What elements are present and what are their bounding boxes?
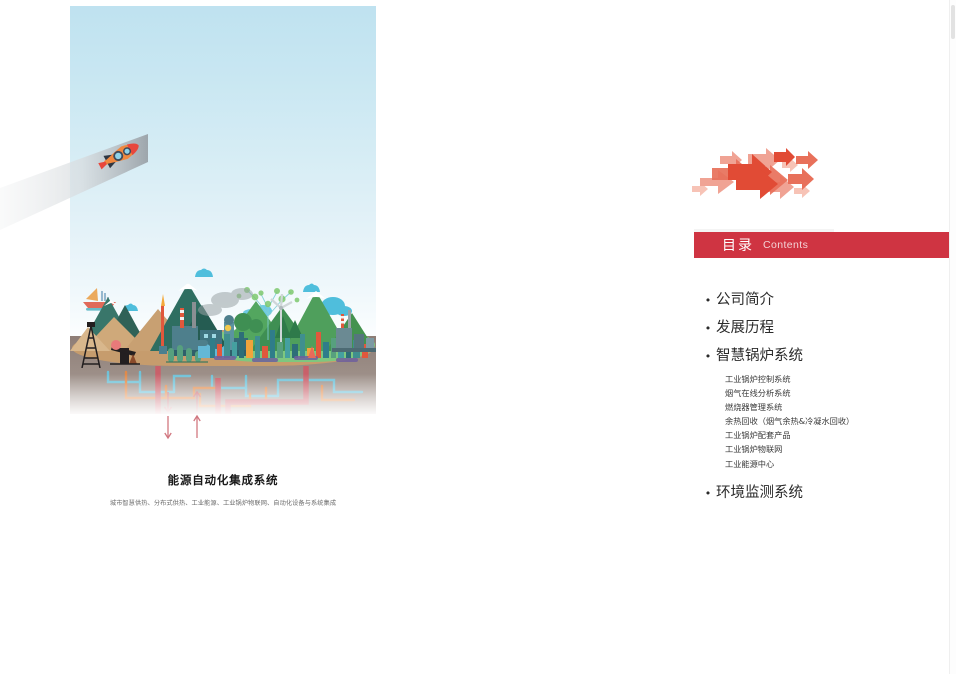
- bullet-icon: •: [700, 350, 716, 363]
- slide-title: 能源自动化集成系统: [70, 472, 376, 488]
- slide-cover-illustration[interactable]: [70, 6, 376, 414]
- toc-item-label: 智慧锅炉系统: [716, 344, 803, 365]
- rocket-icon: [95, 134, 145, 176]
- pipeline-overflow: [70, 410, 376, 460]
- bullet-icon: •: [700, 294, 716, 307]
- refinery-icon: [332, 308, 376, 356]
- bullet-icon: •: [700, 487, 716, 500]
- toc-item-history[interactable]: • 发展历程: [700, 316, 956, 337]
- toc-item-label: 发展历程: [716, 316, 774, 337]
- toc-item-company-intro[interactable]: • 公司简介: [700, 288, 956, 309]
- toc-subitem[interactable]: 燃烧器管理系统: [725, 400, 956, 414]
- vertical-scrollbar[interactable]: [949, 0, 956, 674]
- toc-item-label: 公司简介: [716, 288, 774, 309]
- toc-subitem[interactable]: 工业能源中心: [725, 457, 956, 471]
- toc-subitem[interactable]: 工业锅炉物联网: [725, 442, 956, 456]
- toc-subitem[interactable]: 余热回收（烟气余热&冷凝水回收）: [725, 414, 956, 428]
- arrows-right-icon: [690, 148, 820, 206]
- toc-item-environmental-monitoring[interactable]: • 环境监测系统: [700, 481, 956, 502]
- toc-subitems: 工业锅炉控制系统 烟气在线分析系统 燃烧器管理系统 余热回收（烟气余热&冷凝水回…: [725, 372, 956, 471]
- contents-banner: 目录 Contents: [694, 232, 954, 258]
- toc-subitem[interactable]: 烟气在线分析系统: [725, 386, 956, 400]
- presentation-viewer: 能源自动化集成系统 城市智慧供热、分布式供热、工业能源、工业锅炉物联网、自动化设…: [0, 0, 956, 674]
- toc-subitem[interactable]: 工业锅炉控制系统: [725, 372, 956, 386]
- contents-title-en: Contents: [763, 239, 808, 251]
- bottom-fade: [70, 374, 376, 414]
- contents-title-cn: 目录: [722, 235, 754, 255]
- slide-subtitle: 城市智慧供热、分布式供热、工业能源、工业锅炉物联网、自动化设备与系统集成: [58, 498, 388, 507]
- bullet-icon: •: [700, 322, 716, 335]
- scrollbar-thumb[interactable]: [951, 5, 955, 39]
- toc-item-smart-boiler-system[interactable]: • 智慧锅炉系统: [700, 344, 956, 365]
- toc-subitem[interactable]: 工业锅炉配套产品: [725, 428, 956, 442]
- toc-item-label: 环境监测系统: [716, 481, 803, 502]
- contents-list: • 公司简介 • 发展历程 • 智慧锅炉系统 工业锅炉控制系统 烟气在线分析系统…: [700, 288, 956, 509]
